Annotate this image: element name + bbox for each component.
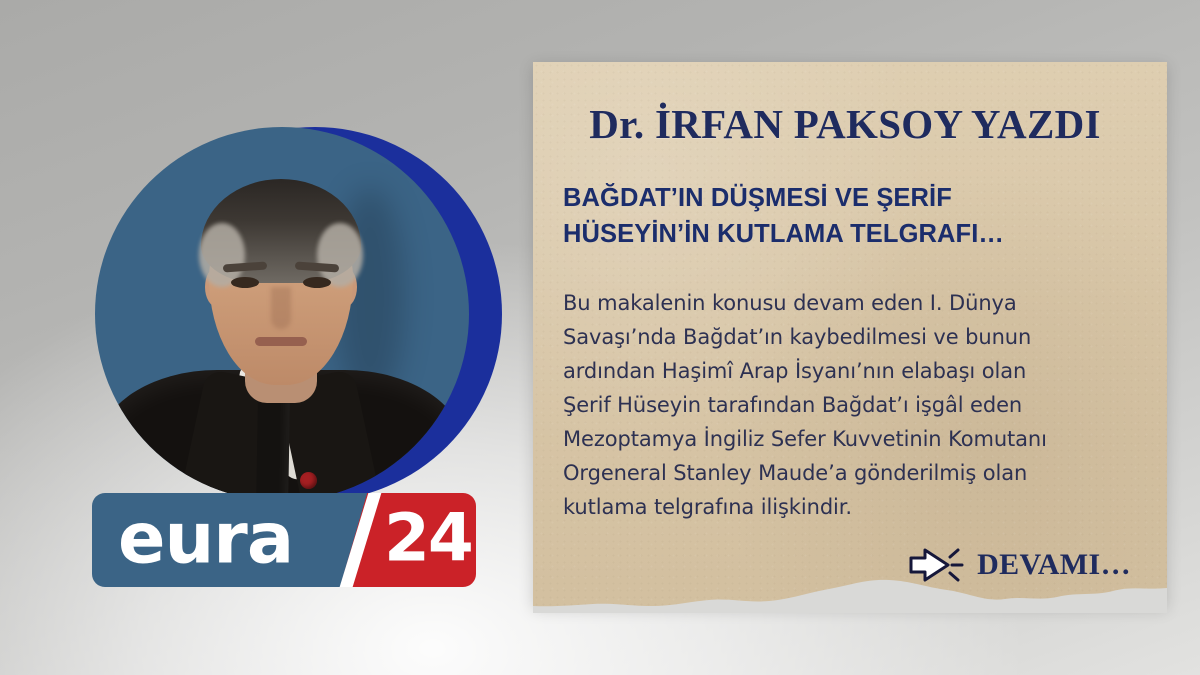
- article-subtitle: BAĞDAT’IN DÜŞMESİ VE ŞERİFHÜSEYİN’İN KUT…: [563, 180, 1127, 252]
- click-cursor-icon: [908, 545, 964, 585]
- hero-left-column: eura 24: [0, 0, 520, 675]
- body-line-4: Şerif Hüseyin tarafından Bağdat’ı işgâl …: [563, 393, 1022, 417]
- subtitle-line-2: HÜSEYİN’İN KUTLAMA TELGRAFI…: [563, 220, 1004, 248]
- eura24-logo[interactable]: eura 24: [92, 493, 476, 587]
- read-more-label: DEVAMI…: [977, 550, 1131, 580]
- logo-wordmark: eura: [118, 504, 293, 574]
- logo-number: 24: [384, 506, 472, 572]
- avatar: [95, 127, 469, 501]
- body-line-6: Orgeneral Stanley Maude’a gönderilmiş ol…: [563, 461, 1027, 485]
- body-line-7: kutlama telgrafına ilişkindir.: [563, 495, 852, 519]
- portrait-eye-right: [303, 277, 331, 288]
- body-line-2: Savaşı’nda Bağdat’ın kaybedilmesi ve bun…: [563, 325, 1031, 349]
- card-content: Dr. İRFAN PAKSOY YAZDI BAĞDAT’IN DÜŞMESİ…: [533, 62, 1167, 524]
- portrait-mouth: [255, 337, 307, 346]
- body-line-1: Bu makalenin konusu devam eden I. Dünya: [563, 291, 1017, 315]
- torn-paper-card: Dr. İRFAN PAKSOY YAZDI BAĞDAT’IN DÜŞMESİ…: [533, 62, 1167, 607]
- body-line-5: Mezoptamya İngiliz Sefer Kuvvetinin Komu…: [563, 427, 1047, 451]
- portrait-lapel-pin: [300, 472, 317, 489]
- body-line-3: ardından Haşimî Arap İsyanı’nın elabaşı …: [563, 359, 1026, 383]
- portrait-eye-left: [231, 277, 259, 288]
- read-more-link[interactable]: DEVAMI…: [908, 545, 1131, 585]
- portrait-necktie: [256, 389, 290, 501]
- promo-canvas: eura 24 Dr. İRFAN PAKSOY YAZDI BAĞDAT’IN…: [0, 0, 1200, 675]
- article-summary: Bu makalenin konusu devam eden I. DünyaS…: [563, 286, 1127, 524]
- page-title: Dr. İRFAN PAKSOY YAZDI: [563, 102, 1127, 148]
- subtitle-line-1: BAĞDAT’IN DÜŞMESİ VE ŞERİF: [563, 184, 952, 212]
- portrait-nose: [271, 287, 291, 329]
